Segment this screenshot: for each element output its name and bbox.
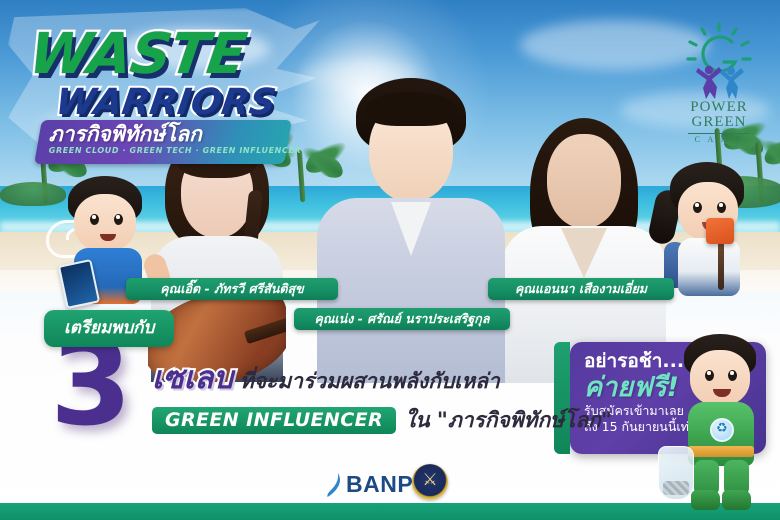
celebrity-name-1: คุณเอิ๊ต - ภัทรวี ศรีสันติสุข (126, 278, 338, 300)
title-thai-plate: ภารกิจพิทักษ์โลก GREEN CLOUD · GREEN TEC… (34, 120, 292, 164)
celebrity-name-3: คุณแอนนา เสืองามเอี่ยม (488, 278, 674, 300)
title-lockup: WASTE WARRIORS ภารกิจพิทักษ์โลก GREEN CL… (8, 8, 320, 160)
headline-green-badge: GREEN INFLUENCER (152, 407, 396, 434)
banpu-mark-icon (325, 472, 343, 498)
headline-celeb-word: เซเลบ (152, 352, 233, 402)
celebrity-name-2: คุณเน่ง - ศรัณย์ นราประเสริฐกุล (294, 308, 510, 330)
mascot-girl-device (652, 162, 764, 296)
campaign-banner: คุณเอิ๊ต - ภัทรวี ศรีสันติสุข คุณเน่ง - … (0, 0, 780, 520)
celebrity-photo-2 (316, 78, 506, 383)
title-thai: ภารกิจพิทักษ์โลก (49, 123, 289, 145)
recycle-icon (710, 418, 734, 442)
mascot-green-hero (666, 334, 776, 512)
crown-glyph: ⚔ (422, 471, 437, 488)
logo-line-green: GREEN (676, 115, 762, 130)
headline-block: เซเลบ ที่จะมาร่วมผสานพลังกับเหล่า GREEN … (152, 352, 572, 437)
sun-people-icon (676, 22, 762, 100)
logo-line-camp: C A M P (676, 135, 762, 144)
headline-quote: ใน "ภารกิจพิทักษ์โลก" (405, 404, 612, 437)
title-waste: WASTE (25, 22, 249, 87)
logo-divider (688, 133, 750, 135)
power-green-camp-logo: POWER GREEN C A M P (676, 22, 762, 138)
title-warriors: WARRIORS (53, 82, 278, 123)
headline-tail: ที่จะมาร่วมผสานพลังกับเหล่า (240, 365, 500, 398)
title-tagline: GREEN CLOUD · GREEN TECH · GREEN INFLUEN… (49, 146, 289, 155)
bottom-accent-bar (0, 503, 780, 520)
pill-get-ready: เตรียมพบกับ (44, 310, 174, 347)
orange-device-icon (706, 218, 734, 244)
royal-emblem-icon: ⚔ (412, 464, 448, 500)
logo-line-power: POWER (676, 100, 762, 115)
trash-bag-icon (658, 446, 694, 500)
